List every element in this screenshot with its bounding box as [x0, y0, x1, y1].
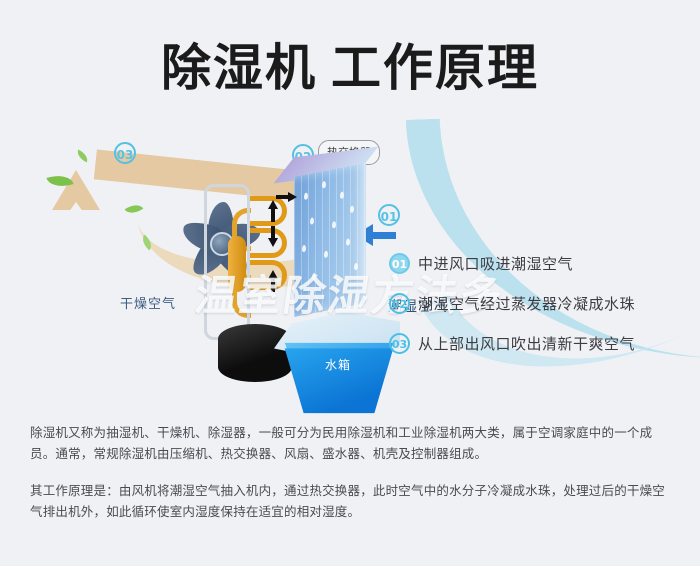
water-tank [280, 344, 398, 416]
legend-text-01: 中进风口吸进潮湿空气 [418, 253, 573, 274]
legend-item: 02 潮湿空气经过蒸发器冷凝成水珠 [389, 292, 689, 314]
dry-air-label: 干燥空气 [120, 293, 176, 312]
compressor-unit [218, 324, 292, 382]
water-tank-label: 水箱 [325, 356, 351, 373]
body-copy: 除湿机又称为抽湿机、干燥机、除湿器，一般可分为民用除湿机和工业除湿机两大类，属于… [30, 422, 675, 538]
page-title-main: 除湿机 [161, 28, 317, 100]
refrigerant-pipe [204, 184, 250, 340]
legend-list: 01 中进风口吸进潮湿空气 02 潮湿空气经过蒸发器冷凝成水珠 03 从上部出风… [389, 252, 689, 372]
legend-item: 03 从上部出风口吹出清新干爽空气 [389, 332, 689, 354]
diagram-badge-03: 03 [114, 142, 136, 164]
infographic-page: 除湿机工作原理 03 02 01 热交换器 [0, 0, 700, 566]
dry-air-arrow-notch [66, 202, 86, 216]
body-paragraph-2: 其工作原理是：由风机将潮湿空气抽入机内，通过热交换器，此时空气中的水分子冷凝成水… [30, 480, 675, 522]
page-title: 除湿机工作原理 [0, 28, 700, 100]
machine-cutaway [170, 148, 410, 398]
legend-badge-01: 01 [389, 253, 410, 274]
legend-badge-02: 02 [389, 293, 410, 314]
body-paragraph-1: 除湿机又称为抽湿机、干燥机、除湿器，一般可分为民用除湿机和工业除湿机两大类，属于… [30, 422, 675, 464]
legend-badge-03: 03 [389, 333, 410, 354]
page-title-sub: 工作原理 [331, 28, 539, 100]
legend-text-02: 潮湿空气经过蒸发器冷凝成水珠 [418, 293, 635, 314]
legend-item: 01 中进风口吸进潮湿空气 [389, 252, 689, 274]
legend-text-03: 从上部出风口吹出清新干爽空气 [418, 333, 635, 354]
